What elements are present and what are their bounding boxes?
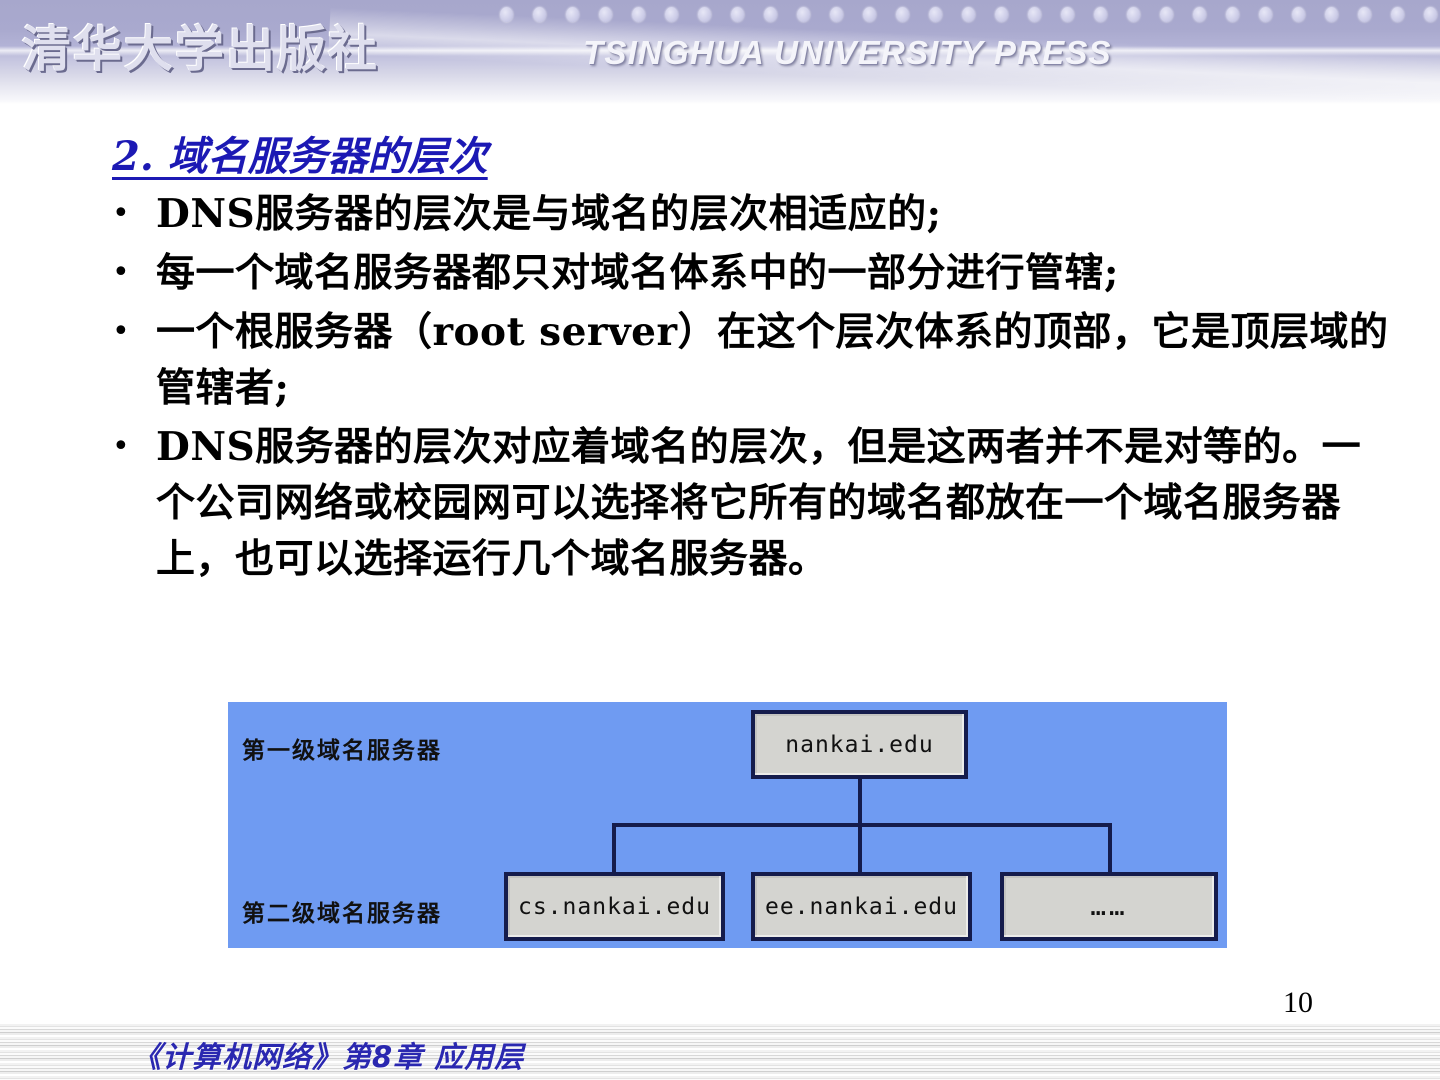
header-dot-icon — [1061, 7, 1074, 22]
footer-chapter-label: 《计算机网络》第8章 应用层 — [132, 1034, 524, 1076]
bullet-marker: • — [104, 245, 156, 301]
header-dot-icon — [797, 7, 810, 22]
list-item: • DNS服务器的层次对应着域名的层次，但是这两者并不是对等的。一个公司网络或校… — [104, 419, 1394, 587]
header-dot-icon — [863, 7, 876, 22]
header-dot-icon — [665, 7, 678, 22]
header-dot-icon — [731, 7, 744, 22]
bullet-marker: • — [104, 419, 156, 475]
header-dot-icon — [1226, 7, 1239, 22]
dns-hierarchy-diagram: 第一级域名服务器 第二级域名服务器 nankai.edu cs.nankai.e… — [228, 702, 1227, 948]
node-ellipsis-more-servers: …… — [1000, 872, 1218, 941]
connector-child-left — [612, 823, 616, 875]
connector-child-middle — [858, 823, 862, 875]
node-cs-nankai-edu: cs.nankai.edu — [504, 872, 725, 941]
list-item: • DNS服务器的层次是与域名的层次相适应的; — [104, 186, 1394, 242]
node-label: cs.nankai.edu — [518, 894, 711, 920]
header-dot-icon — [1424, 7, 1437, 22]
header-dot-icon — [1094, 7, 1107, 22]
header-dot-icon — [896, 7, 909, 22]
node-label: ee.nankai.edu — [765, 894, 958, 920]
header-dot-icon — [1391, 7, 1404, 22]
header-dot-icon — [1193, 7, 1206, 22]
list-item: • 一个根服务器（root server）在这个层次体系的顶部，它是顶层域的管辖… — [104, 304, 1394, 416]
node-ee-nankai-edu: ee.nankai.edu — [751, 872, 972, 941]
header-dot-icon — [1358, 7, 1371, 22]
header-dot-row — [500, 7, 1440, 29]
header-dot-icon — [599, 7, 612, 22]
header-dot-icon — [1292, 7, 1305, 22]
bullet-text: DNS服务器的层次对应着域名的层次，但是这两者并不是对等的。一个公司网络或校园网… — [156, 419, 1394, 587]
bullet-text: 每一个域名服务器都只对域名体系中的一部分进行管辖; — [156, 245, 1394, 301]
connector-child-right — [1108, 823, 1112, 875]
header-dot-icon — [1325, 7, 1338, 22]
header-dot-icon — [764, 7, 777, 22]
node-root-nankai-edu: nankai.edu — [751, 710, 968, 779]
bullet-text: DNS服务器的层次是与域名的层次相适应的; — [156, 186, 1394, 242]
header-dot-icon — [995, 7, 1008, 22]
header-dot-icon — [1160, 7, 1173, 22]
node-label: nankai.edu — [785, 732, 933, 758]
header-dot-icon — [698, 7, 711, 22]
bullet-marker: • — [104, 304, 156, 360]
publisher-name-english: TSINGHUA UNIVERSITY PRESS — [583, 34, 1112, 72]
bullet-list: • DNS服务器的层次是与域名的层次相适应的; • 每一个域名服务器都只对域名体… — [104, 186, 1394, 590]
publisher-name-chinese: 清华大学出版社 — [22, 10, 379, 81]
connector-root-vertical — [858, 779, 862, 827]
tier1-label: 第一级域名服务器 — [242, 731, 442, 765]
slide-footer-band: 《计算机网络》第8章 应用层 — [0, 1022, 1440, 1080]
header-dot-icon — [566, 7, 579, 22]
header-dot-icon — [830, 7, 843, 22]
header-dot-icon — [632, 7, 645, 22]
header-dot-icon — [1259, 7, 1272, 22]
header-dot-icon — [533, 7, 546, 22]
header-dot-icon — [929, 7, 942, 22]
node-label: …… — [1090, 894, 1127, 920]
page-title: 2. 域名服务器的层次 — [112, 124, 488, 182]
header-dot-icon — [1028, 7, 1041, 22]
connector-horizontal-bus — [612, 823, 1112, 827]
tier2-label: 第二级域名服务器 — [242, 894, 442, 928]
slide-header-banner: 清华大学出版社 TSINGHUA UNIVERSITY PRESS — [0, 0, 1440, 104]
bullet-text: 一个根服务器（root server）在这个层次体系的顶部，它是顶层域的管辖者; — [156, 304, 1394, 416]
header-dot-icon — [962, 7, 975, 22]
header-dot-icon — [1127, 7, 1140, 22]
page-number: 10 — [1283, 986, 1313, 1020]
bullet-marker: • — [104, 186, 156, 242]
header-dot-icon — [500, 7, 513, 22]
list-item: • 每一个域名服务器都只对域名体系中的一部分进行管辖; — [104, 245, 1394, 301]
